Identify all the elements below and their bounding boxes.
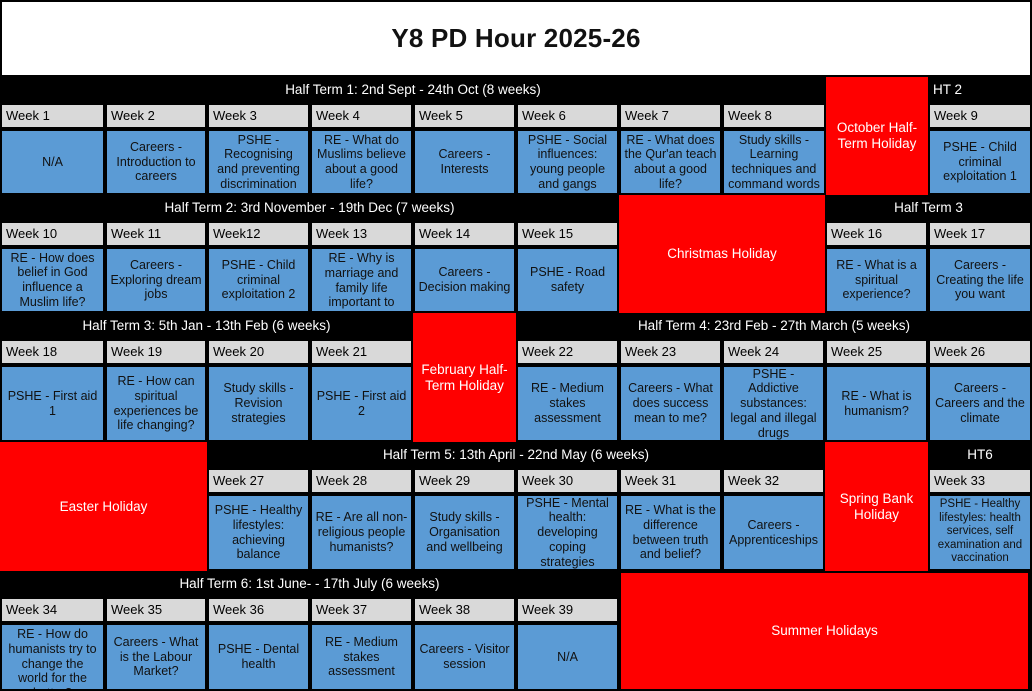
week-label-23: Week 23: [619, 339, 722, 365]
topic-week-22[interactable]: RE - Medium stakes assessment: [516, 365, 619, 442]
topic-week-17[interactable]: Careers - Creating the life you want: [928, 247, 1032, 313]
holiday-spring-bank: Spring Bank Holiday: [825, 442, 928, 571]
week-label-39: Week 39: [516, 597, 619, 623]
topic-week-25[interactable]: RE - What is humanism?: [825, 365, 928, 442]
half-term-banner-ht4: Half Term 4: 23rd Feb - 27th March (5 we…: [516, 313, 1032, 339]
week-label-32: Week 32: [722, 468, 825, 494]
topic-week-24[interactable]: PSHE - Addictive substances: legal and i…: [722, 365, 825, 442]
week-label-28: Week 28: [310, 468, 413, 494]
week-label-29: Week 29: [413, 468, 516, 494]
topic-week-19[interactable]: RE - How can spiritual experiences be li…: [105, 365, 207, 442]
week-label-1: Week 1: [0, 103, 105, 129]
half-term-banner-ht2: Half Term 2: 3rd November - 19th Dec (7 …: [0, 195, 619, 221]
week-label-14: Week 14: [413, 221, 516, 247]
week-label-2: Week 2: [105, 103, 207, 129]
page-title: Y8 PD Hour 2025-26: [391, 23, 640, 54]
topic-week-27[interactable]: PSHE - Healthy lifestyles: achieving bal…: [207, 494, 310, 571]
week-label-5: Week 5: [413, 103, 516, 129]
holiday-february: February Half-Term Holiday: [413, 313, 516, 442]
topic-week-5[interactable]: Careers - Interests: [413, 129, 516, 195]
week-label-8: Week 8: [722, 103, 826, 129]
week-label-27: Week 27: [207, 468, 310, 494]
week-label-6: Week 6: [516, 103, 619, 129]
topic-week-16[interactable]: RE - What is a spiritual experience?: [825, 247, 928, 313]
topic-week-33[interactable]: PSHE - Healthy lifestyles: health servic…: [928, 494, 1032, 571]
topic-week-36[interactable]: PSHE - Dental health: [207, 623, 310, 691]
week-label-10: Week 10: [0, 221, 105, 247]
half-term-banner-ht1: Half Term 1: 2nd Sept - 24th Oct (8 week…: [0, 77, 826, 103]
topic-week-35[interactable]: Careers - What is the Labour Market?: [105, 623, 207, 691]
week-label-26: Week 26: [928, 339, 1032, 365]
week-label-17: Week 17: [928, 221, 1032, 247]
week-label-21: Week 21: [310, 339, 413, 365]
week-label-16: Week 16: [825, 221, 928, 247]
week-label-35: Week 35: [105, 597, 207, 623]
topic-week-38[interactable]: Careers - Visitor session: [413, 623, 516, 691]
week-label-36: Week 36: [207, 597, 310, 623]
topic-week-15[interactable]: PSHE - Road safety: [516, 247, 619, 313]
week-label-9: Week 9: [928, 103, 1032, 129]
week-label-18: Week 18: [0, 339, 105, 365]
week-label-3: Week 3: [207, 103, 310, 129]
week-label-20: Week 20: [207, 339, 310, 365]
topic-week-31[interactable]: RE - What is the difference between trut…: [619, 494, 722, 571]
topic-week-21[interactable]: PSHE - First aid 2: [310, 365, 413, 442]
topic-week-32[interactable]: Careers - Apprenticeships: [722, 494, 825, 571]
week-label-24: Week 24: [722, 339, 825, 365]
topic-week-11[interactable]: Careers - Exploring dream jobs: [105, 247, 207, 313]
week-label-4: Week 4: [310, 103, 413, 129]
holiday-christmas: Christmas Holiday: [619, 195, 825, 313]
topic-week-14[interactable]: Careers - Decision making: [413, 247, 516, 313]
holiday-easter: Easter Holiday: [0, 442, 207, 571]
topic-week-34[interactable]: RE - How do humanists try to change the …: [0, 623, 105, 691]
topic-week-18[interactable]: PSHE - First aid 1: [0, 365, 105, 442]
topic-week-12[interactable]: PSHE - Child criminal exploitation 2: [207, 247, 310, 313]
holiday-october: October Half-Term Holiday: [826, 77, 928, 195]
week-label-30: Week 30: [516, 468, 619, 494]
curriculum-grid: Half Term 1: 2nd Sept - 24th Oct (8 week…: [0, 77, 1032, 691]
week-label-31: Week 31: [619, 468, 722, 494]
week-label-34: Week 34: [0, 597, 105, 623]
topic-week-39[interactable]: N/A: [516, 623, 619, 691]
week-label-11: Week 11: [105, 221, 207, 247]
topic-week-10[interactable]: RE - How does belief in God influence a …: [0, 247, 105, 313]
topic-week-3[interactable]: PSHE - Recognising and preventing discri…: [207, 129, 310, 195]
week-label-33: Week 33: [928, 468, 1032, 494]
week-label-22: Week 22: [516, 339, 619, 365]
pd-hour-plan-page: Y8 PD Hour 2025-26 Half Term 1: 2nd Sept…: [0, 0, 1032, 691]
topic-week-29[interactable]: Study skills - Organisation and wellbein…: [413, 494, 516, 571]
topic-week-20[interactable]: Study skills - Revision strategies: [207, 365, 310, 442]
topic-week-23[interactable]: Careers - What does success mean to me?: [619, 365, 722, 442]
topic-week-7[interactable]: RE - What does the Qur'an teach about a …: [619, 129, 722, 195]
topic-week-4[interactable]: RE - What do Muslims believe about a goo…: [310, 129, 413, 195]
half-term-banner-ht5: Half Term 5: 13th April - 22nd May (6 we…: [207, 442, 825, 468]
half-term-banner-ht2-short: HT 2: [928, 77, 1032, 103]
half-term-banner-ht3-short: Half Term 3: [825, 195, 1032, 221]
week-label-37: Week 37: [310, 597, 413, 623]
half-term-banner-ht6-short: HT6: [928, 442, 1032, 468]
topic-week-26[interactable]: Careers - Careers and the climate: [928, 365, 1032, 442]
topic-week-13[interactable]: RE - Why is marriage and family life imp…: [310, 247, 413, 313]
week-label-13: Week 13: [310, 221, 413, 247]
week-label-25: Week 25: [825, 339, 928, 365]
topic-week-9[interactable]: PSHE - Child criminal exploitation 1: [928, 129, 1032, 195]
week-label-7: Week 7: [619, 103, 722, 129]
half-term-banner-ht6: Half Term 6: 1st June- - 17th July (6 we…: [0, 571, 619, 597]
topic-week-6[interactable]: PSHE - Social influences: young people a…: [516, 129, 619, 195]
topic-week-1[interactable]: N/A: [0, 129, 105, 195]
page-title-bar: Y8 PD Hour 2025-26: [0, 0, 1032, 77]
week-label-12: Week12: [207, 221, 310, 247]
topic-week-30[interactable]: PSHE - Mental health: developing coping …: [516, 494, 619, 571]
week-label-19: Week 19: [105, 339, 207, 365]
topic-week-2[interactable]: Careers - Introduction to careers: [105, 129, 207, 195]
week-label-15: Week 15: [516, 221, 619, 247]
topic-week-8[interactable]: Study skills - Learning techniques and c…: [722, 129, 826, 195]
holiday-summer: Summer Holidays: [619, 571, 1030, 691]
topic-week-28[interactable]: RE - Are all non-religious people humani…: [310, 494, 413, 571]
half-term-banner-ht3: Half Term 3: 5th Jan - 13th Feb (6 weeks…: [0, 313, 413, 339]
topic-week-37[interactable]: RE - Medium stakes assessment: [310, 623, 413, 691]
week-label-38: Week 38: [413, 597, 516, 623]
